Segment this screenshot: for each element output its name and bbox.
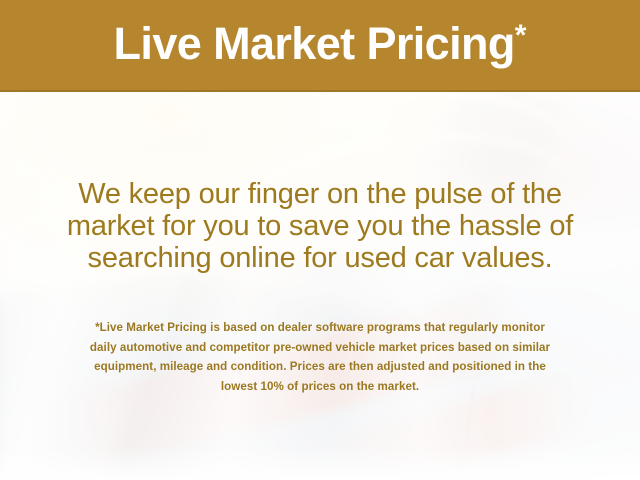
disclaimer-line: *Live Market Pricing is based on dealer … [28, 318, 612, 338]
headline-line: searching online for used car values. [0, 242, 640, 274]
disclaimer-paragraph: *Live Market Pricing is based on dealer … [0, 318, 640, 396]
page-title: Live Market Pricing* [114, 21, 527, 69]
headline-line: market for you to save you the hassle of [0, 210, 640, 242]
header-banner: Live Market Pricing* [0, 0, 640, 92]
disclaimer-line: equipment, mileage and condition. Prices… [28, 357, 612, 377]
page-title-asterisk: * [515, 19, 527, 52]
live-market-pricing-slide: Live Market Pricing* We keep our finger … [0, 0, 640, 480]
disclaimer-line: lowest 10% of prices on the market. [28, 377, 612, 397]
headline-line: We keep our finger on the pulse of the [0, 178, 640, 210]
page-title-text: Live Market Pricing [114, 18, 515, 69]
disclaimer-line: daily automotive and competitor pre-owne… [28, 338, 612, 358]
background-bottom-fade [0, 446, 640, 480]
headline-paragraph: We keep our finger on the pulse of the m… [0, 178, 640, 274]
